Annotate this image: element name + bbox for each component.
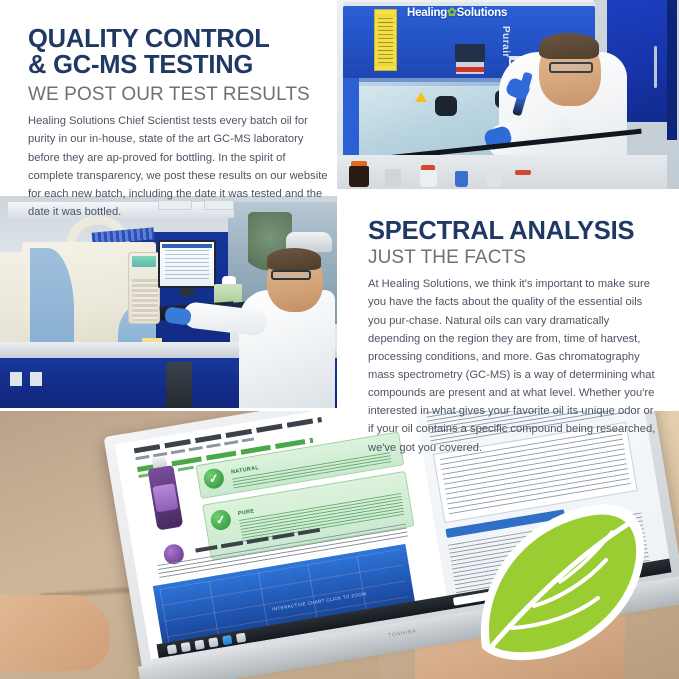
gc-lcd-display [132, 256, 156, 267]
section-quality-control: QUALITY CONTROL & GC-MS TESTING WE POST … [28, 26, 328, 221]
oil-bottle-label [152, 483, 178, 512]
safety-glasses-icon [549, 62, 593, 73]
chromatogram-data-rows [165, 250, 209, 280]
quality-headline: QUALITY CONTROL & GC-MS TESTING [28, 26, 328, 78]
wall-outlet-2 [30, 372, 42, 386]
gc-scientist-hair [267, 248, 321, 270]
reagent-cap-red-2 [515, 170, 531, 175]
taskbar-icon-6[interactable] [236, 633, 246, 643]
desktop-tower [166, 362, 192, 408]
green-leaf-logo [468, 498, 648, 666]
reagent-jar-white [420, 170, 437, 187]
reagent-bottle-clear [385, 169, 401, 187]
reagent-bottle-grey [487, 172, 501, 187]
taskbar-start-icon[interactable] [167, 644, 177, 654]
cabinet-handle [654, 46, 657, 88]
infographic-root: Healing✿Solutions Purair [0, 0, 679, 679]
quality-headline-line1: QUALITY CONTROL [28, 26, 328, 52]
spectral-body: At Healing Solutions, we think it's impo… [368, 275, 660, 456]
glove-port-left [435, 96, 457, 116]
taskbar-icon-4[interactable] [208, 637, 218, 647]
quality-body: Healing Solutions Chief Scientist tests … [28, 112, 328, 221]
keypad-keys[interactable] [132, 279, 158, 321]
leaf-accent-icon: ✿ [447, 7, 456, 19]
hood-brand-primary: Healing [407, 7, 447, 19]
lab-bench [337, 155, 667, 189]
hazard-label [374, 9, 397, 71]
reagent-bottle-amber [349, 166, 369, 187]
hood-red-stripe [456, 67, 484, 72]
software-title-bar [162, 244, 212, 248]
quality-headline-line2: & GC-MS TESTING [28, 52, 328, 78]
lab-monitor [158, 240, 216, 288]
monitor-stand [180, 288, 194, 296]
taskbar-icon-3[interactable] [194, 640, 204, 650]
taskbar-browser-icon[interactable] [222, 635, 232, 645]
hood-model-label: Purair [500, 26, 511, 58]
photo-gcms-instrument [0, 196, 337, 408]
wall-outlet-1 [10, 372, 22, 386]
spectral-headline: SPECTRAL ANALYSIS [368, 218, 660, 244]
quality-subhead: WE POST OUR TEST RESULTS [28, 84, 328, 105]
hood-brand-logo: Healing✿Solutions [407, 5, 507, 19]
spectral-subhead: JUST THE FACTS [368, 247, 660, 268]
monitor-screen [160, 242, 214, 286]
section-spectral-analysis: SPECTRAL ANALYSIS JUST THE FACTS At Heal… [368, 218, 660, 457]
scientist-hair [539, 33, 599, 59]
person-hand [0, 595, 110, 671]
photo-lab-fume-hood: Healing✿Solutions Purair [337, 0, 679, 189]
gc-safety-glasses-icon [271, 270, 311, 280]
reagent-bottle-blue [455, 171, 468, 187]
warning-triangle-icon [415, 92, 427, 102]
blue-cabinet-edge [667, 0, 677, 140]
spectral-headline-line1: SPECTRAL ANALYSIS [368, 218, 660, 244]
hood-brand-secondary: Solutions [457, 7, 508, 19]
hood-control-plate [455, 44, 485, 62]
taskbar-icon-2[interactable] [181, 642, 191, 652]
